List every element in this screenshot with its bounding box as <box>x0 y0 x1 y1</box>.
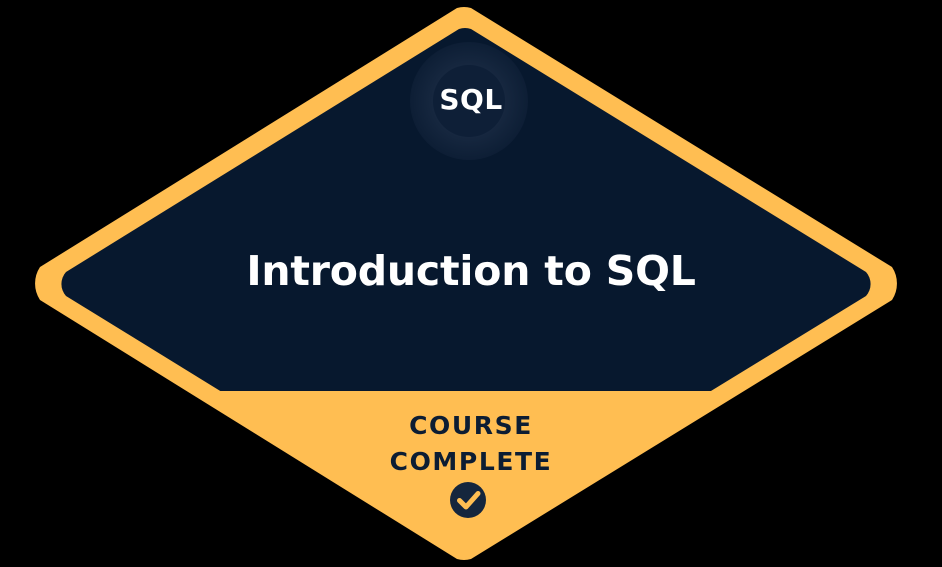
sql-emblem-ring-inner <box>433 65 505 137</box>
course-completion-badge: SQL Introduction to SQL COURSE COMPLETE <box>0 0 942 567</box>
badge-artwork <box>0 0 942 567</box>
check-circle <box>450 482 486 518</box>
